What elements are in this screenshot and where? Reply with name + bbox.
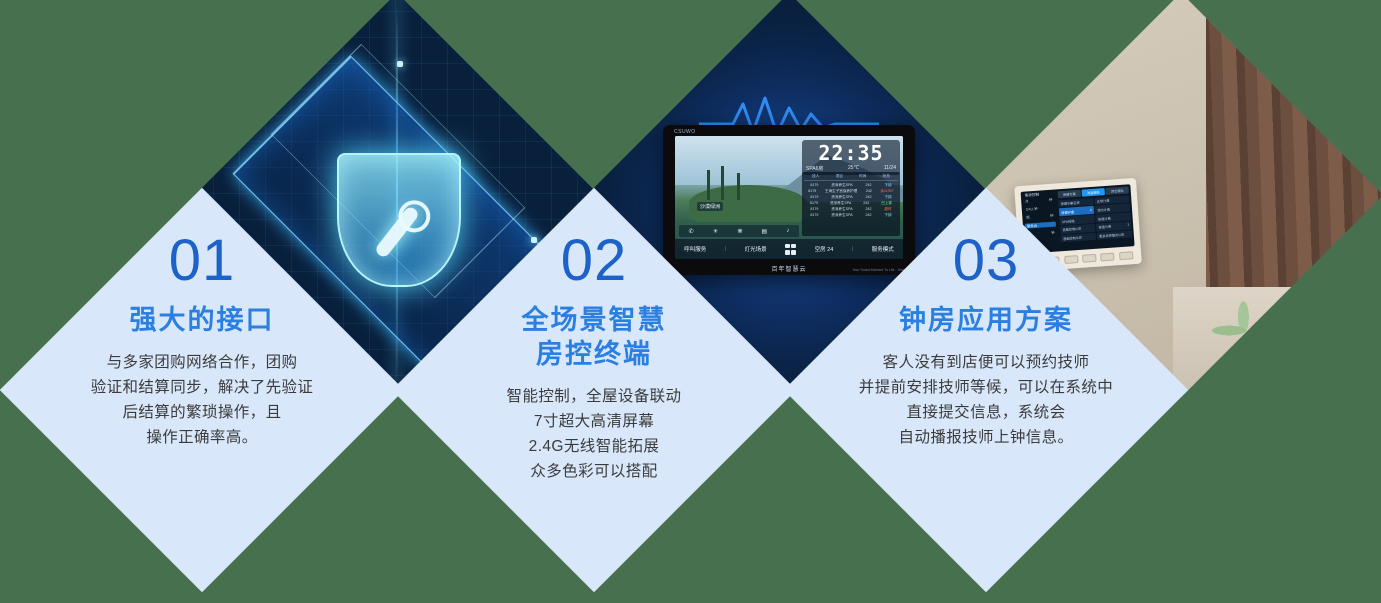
tab-empty-rooms[interactable]: 空房 24 bbox=[815, 245, 834, 253]
list-rows: 8179资深养生SPA242下钟8179王海生子宫保养护理242余11′50″8… bbox=[804, 182, 898, 218]
tablet-device: CSUWO 22:35 SPA6房 25℃ bbox=[663, 125, 915, 275]
wallpaper-tree bbox=[737, 173, 740, 200]
tab-light-scene[interactable]: 灯光场景 bbox=[745, 245, 767, 253]
hard-button[interactable] bbox=[1119, 252, 1134, 261]
tablet-screen[interactable]: 22:35 SPA6房 25℃ 11/24 技人 项目 时间 bbox=[675, 136, 903, 259]
card-body-1: 与多家团购网络合作，团购 验证和结算同步，解决了先验证 后结算的繁琐操作，且 操… bbox=[91, 350, 314, 450]
list-item[interactable]: 8179资深养生SPA242下钟 bbox=[804, 212, 898, 218]
hard-button[interactable] bbox=[1082, 254, 1097, 263]
controller-menu-item[interactable]: 面钟 bbox=[1024, 213, 1055, 220]
controller-menu-item[interactable]: CALL钟 bbox=[1024, 205, 1055, 212]
list-item[interactable]: 8179资深养生SPA242下钟 bbox=[804, 194, 898, 200]
col-time: 时间 bbox=[859, 174, 866, 179]
clock-time: 22:35 bbox=[806, 143, 896, 163]
service-list-widget[interactable]: 技人 项目 时间 状态 8179资深养生SPA242下钟8179王海生子宫保养护… bbox=[802, 172, 900, 236]
clock-meta: SPA6房 25℃ 11/24 bbox=[806, 165, 896, 172]
card-title-2: 全场景智慧 房控终端 bbox=[522, 304, 667, 372]
temperature-label: 25℃ bbox=[848, 165, 859, 172]
light-icon[interactable]: ☀ bbox=[713, 228, 718, 235]
tab-separator: | bbox=[725, 246, 726, 252]
tab-service-mode[interactable]: 服务模式 bbox=[872, 245, 894, 253]
music-icon[interactable]: ♪ bbox=[786, 228, 789, 234]
col-status: 状态 bbox=[883, 174, 890, 179]
col-tech: 技人 bbox=[812, 174, 819, 179]
card-number-1: 01 bbox=[169, 232, 236, 290]
tab-call-service[interactable]: 呼叫服务 bbox=[684, 245, 706, 253]
card-body-2: 智能控制，全屋设备联动 7寸超大高清屏幕 2.4G无线智能拓展 众多色彩可以搭配 bbox=[507, 384, 682, 484]
room-label: SPA6房 bbox=[806, 165, 823, 172]
phone-icon[interactable]: ✆ bbox=[689, 228, 694, 235]
card-title-3: 钟房应用方案 bbox=[899, 304, 1073, 338]
tablet-brand-top: CSUWO bbox=[674, 129, 696, 135]
controller-grid-item[interactable]: 更多技师服务/2项 bbox=[1097, 231, 1132, 241]
controller-grid-item[interactable]: 音画控制/3项 bbox=[1061, 233, 1096, 243]
spark-dot bbox=[531, 237, 537, 243]
controller-tab[interactable]: 沐浴服务 bbox=[1082, 188, 1105, 196]
card-title-1: 强大的接口 bbox=[130, 304, 275, 338]
curtain-icon[interactable]: ▤ bbox=[762, 228, 768, 235]
tablet-brand-corner: Your Smart Moment To Life · Smart bbox=[852, 268, 907, 272]
tablet-tab-bar[interactable]: 呼叫服务 | 灯光场景 空房 24 | 服务模式 bbox=[675, 239, 903, 259]
tablet-brand-bottom: 百年智慧云 bbox=[771, 264, 806, 273]
card-number-3: 03 bbox=[953, 232, 1020, 290]
wallpaper-tree bbox=[721, 166, 724, 200]
spark-dot bbox=[397, 61, 403, 67]
col-item: 项目 bbox=[836, 174, 843, 179]
controller-tab[interactable]: 保健专案 bbox=[1058, 190, 1081, 198]
fan-icon[interactable]: ❋ bbox=[737, 228, 742, 235]
controller-tab[interactable]: 其它服务 bbox=[1106, 187, 1129, 195]
hard-button[interactable] bbox=[1064, 255, 1079, 264]
wallpaper-tree bbox=[707, 170, 710, 200]
tab-separator: | bbox=[852, 246, 853, 252]
controller-menu-item[interactable]: 服务台 bbox=[1025, 221, 1056, 228]
card-number-2: 02 bbox=[561, 232, 628, 290]
clock-widget: 22:35 SPA6房 25℃ 11/24 bbox=[802, 140, 900, 175]
plant-foreground bbox=[1202, 290, 1292, 380]
controller-grid[interactable]: 保健专案名称正常计费保健护理2增付计费SPA经络包厢计费音量控制/2项室温计费1… bbox=[1059, 195, 1133, 243]
quick-scene-label[interactable]: 沙漠绿洲 bbox=[697, 202, 723, 211]
diamond-feature-panel: CSUWO 22:35 SPA6房 25℃ bbox=[0, 0, 1381, 603]
controller-right-panel[interactable]: 保健专案沐浴服务其它服务 保健专案名称正常计费保健护理2增付计费SPA经络包厢计… bbox=[1056, 185, 1135, 252]
list-item[interactable]: 8179资深养生SPA242超时 bbox=[804, 206, 898, 212]
list-item[interactable]: 8179资深养生SPA242下钟 bbox=[804, 182, 898, 188]
card-body-3: 客人没有到店便可以预约技师 并提前安排技师等候，可以在系统中 直接提交信息，系统… bbox=[859, 350, 1113, 450]
hard-button[interactable] bbox=[1101, 253, 1116, 262]
quick-icon-bar[interactable]: ✆ ☀ ❋ ▤ ♪ bbox=[679, 225, 799, 237]
apps-grid-icon[interactable] bbox=[785, 244, 796, 255]
plant-background bbox=[1296, 2, 1366, 72]
list-header: 技人 项目 时间 状态 bbox=[804, 174, 898, 181]
date-label: 11/24 bbox=[884, 165, 896, 172]
